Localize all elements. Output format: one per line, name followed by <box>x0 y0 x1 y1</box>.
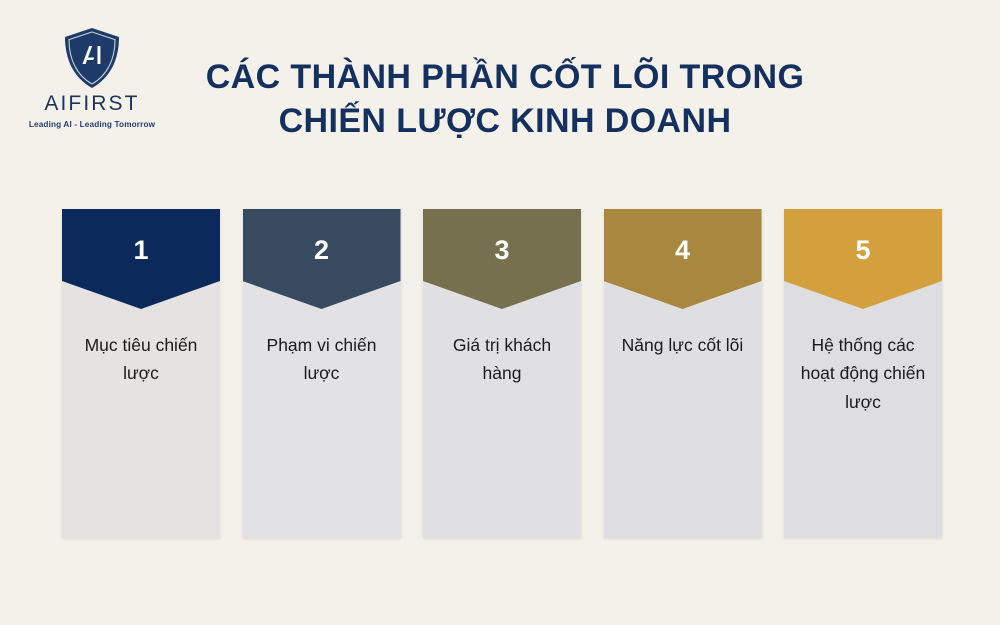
core-components-card-row: 1 Mục tiêu chiến lược 2 Phạm vi chiến lư… <box>62 209 942 538</box>
component-card-5[interactable]: 5 Hệ thống các hoạt động chiến lược <box>784 209 942 538</box>
card-header-5: 5 <box>784 209 942 309</box>
card-number-1: 1 <box>133 237 148 264</box>
card-number-3: 3 <box>494 237 509 264</box>
brand-name: AIFIRST <box>22 92 162 116</box>
component-card-2[interactable]: 2 Phạm vi chiến lược <box>243 209 401 538</box>
shield-wrap <box>22 26 162 90</box>
card-number-2: 2 <box>314 237 329 264</box>
card-label-5: Hệ thống các hoạt động chiến lược <box>784 331 942 416</box>
card-label-3: Giá trị khách hàng <box>423 331 581 388</box>
card-header-4: 4 <box>604 209 762 309</box>
card-label-1: Mục tiêu chiến lược <box>62 331 220 388</box>
card-number-5: 5 <box>855 237 870 264</box>
brand-tagline: Leading AI - Leading Tomorrow <box>22 120 162 129</box>
shield-ai-icon <box>61 26 123 90</box>
component-card-1[interactable]: 1 Mục tiêu chiến lược <box>62 209 220 538</box>
page-title-line-2: CHIẾN LƯỢC KINH DOANH <box>175 100 835 144</box>
card-header-1: 1 <box>62 209 220 309</box>
card-number-4: 4 <box>675 237 690 264</box>
page-title-line-1: CÁC THÀNH PHẦN CỐT LÕI TRONG <box>175 56 835 100</box>
card-header-3: 3 <box>423 209 581 309</box>
page-title: CÁC THÀNH PHẦN CỐT LÕI TRONG CHIẾN LƯỢC … <box>175 56 835 143</box>
card-header-2: 2 <box>243 209 401 309</box>
card-label-2: Phạm vi chiến lược <box>243 331 401 388</box>
card-label-4: Năng lực cốt lõi <box>604 331 762 359</box>
component-card-3[interactable]: 3 Giá trị khách hàng <box>423 209 581 538</box>
component-card-4[interactable]: 4 Năng lực cốt lõi <box>604 209 762 538</box>
brand-logo: AIFIRST Leading AI - Leading Tomorrow <box>22 26 162 129</box>
